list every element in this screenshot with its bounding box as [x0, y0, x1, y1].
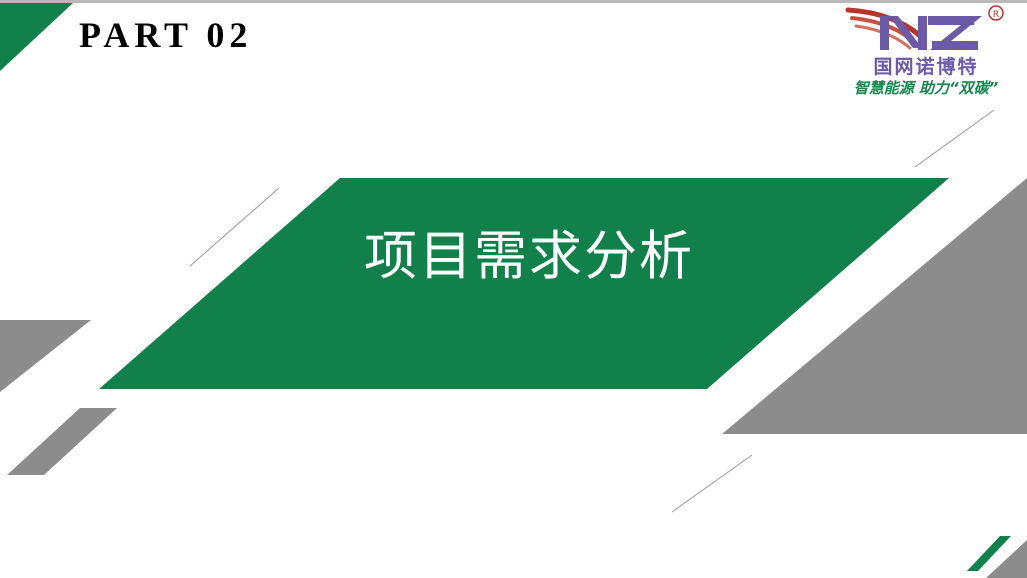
- gray-triangle-left-upper: [0, 320, 91, 392]
- gray-parallelogram-left-lower: [7, 408, 117, 475]
- green-corner-triangle-top-left: [0, 3, 73, 71]
- svg-text:R: R: [993, 10, 999, 20]
- page-title: 项目需求分析: [364, 230, 694, 283]
- company-logo: R 国网诺博特 智慧能源 助力“双碳”: [836, 4, 1016, 102]
- slide-canvas: PART 02 项目需求分析 R 国网诺博特 智慧能源 助力“双碳”: [0, 0, 1027, 578]
- logo-tagline: 智慧能源 助力“双碳”: [836, 77, 1016, 98]
- logo-mark-icon: R: [836, 4, 1016, 56]
- hairline-upper-right: [915, 110, 994, 167]
- logo-company-name: 国网诺博特: [836, 52, 1016, 79]
- hairline-lower-center: [672, 455, 752, 512]
- part-label: PART 02: [79, 14, 252, 56]
